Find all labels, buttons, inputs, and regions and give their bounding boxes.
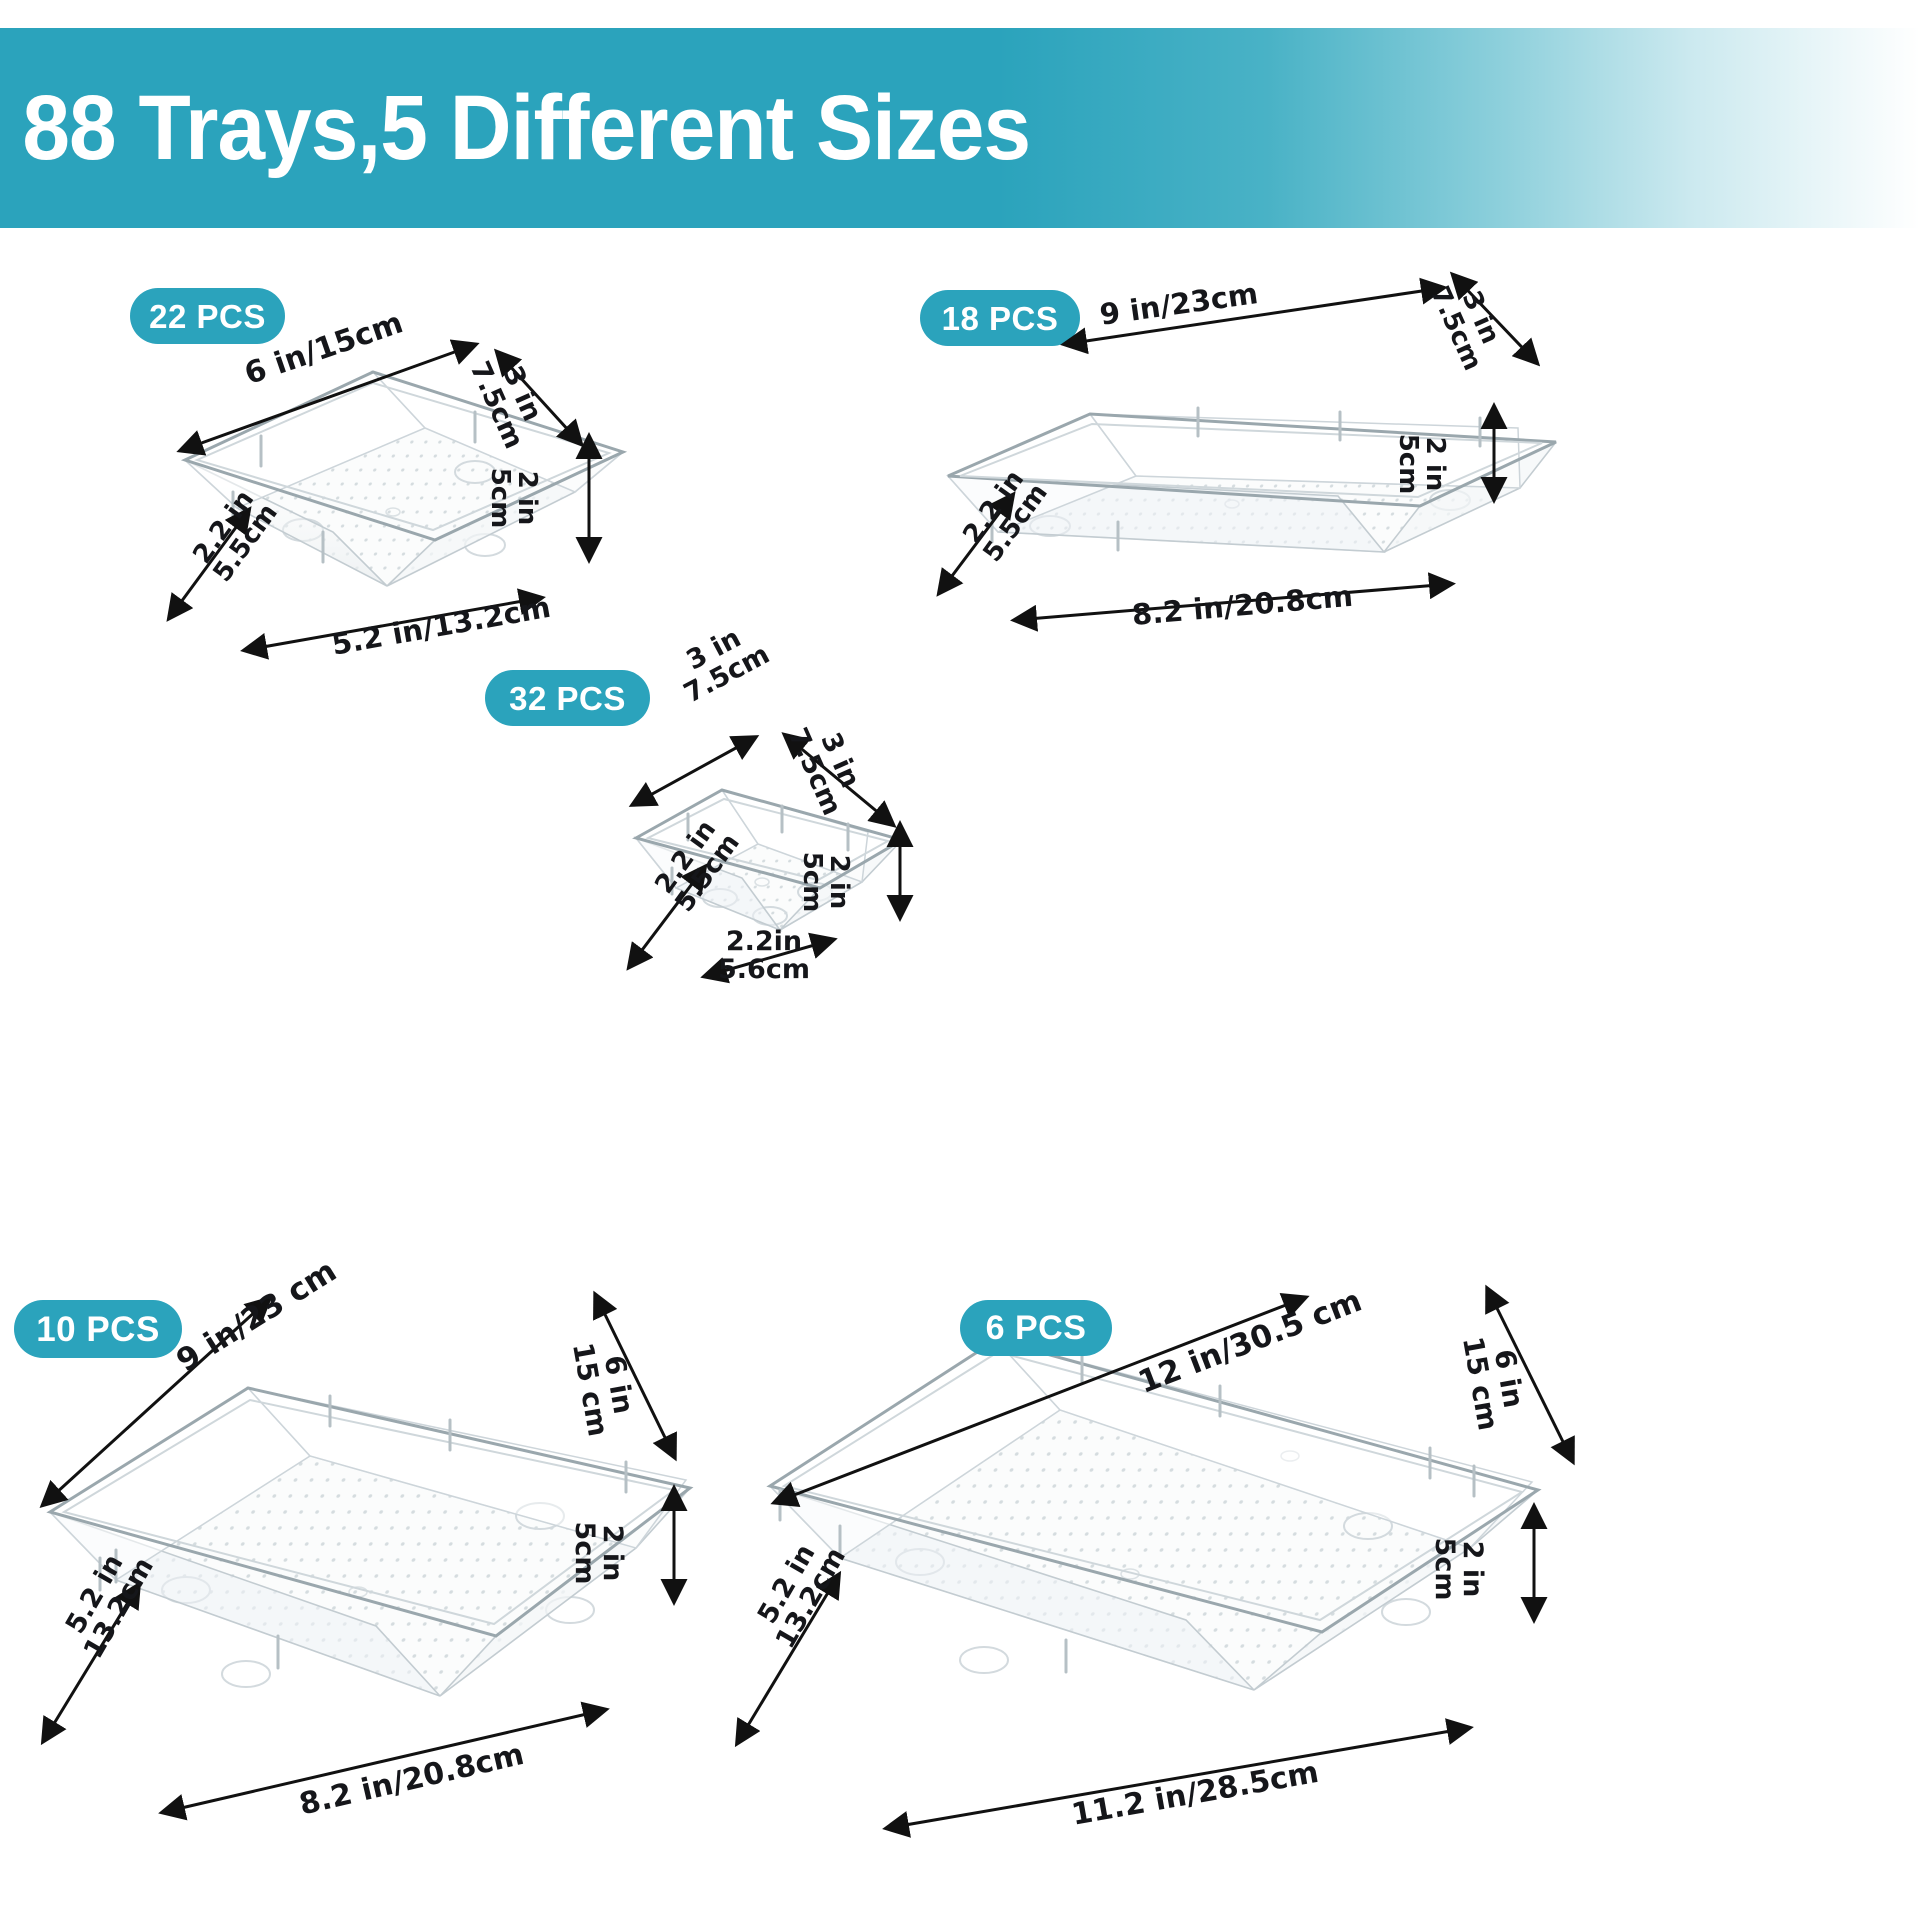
tray-illustration-6pcs <box>730 1290 1550 1770</box>
badge-18pcs: 18 PCS <box>920 290 1080 346</box>
dim-height-line1-32pcs: 2 in <box>824 855 854 910</box>
header-banner: 88 Trays,5 Different Sizes <box>0 28 1920 228</box>
dim-bottom-width-32pcs: 2.2in 5.6cm <box>718 928 810 985</box>
badge-32pcs: 32 PCS <box>485 670 650 726</box>
dim-height-22pcs: 2 in 5cm <box>485 448 540 548</box>
dim-height-6pcs: 2 in 5cm <box>1429 1514 1486 1624</box>
dim-bottom-width-line1-32pcs: 2.2in <box>726 926 802 957</box>
dim-height-line2-32pcs: 5cm <box>797 852 827 913</box>
dim-height-18pcs: 2 in 5cm <box>1393 414 1448 514</box>
dim-top-width-32pcs: 3 in 7.5cm <box>650 607 791 718</box>
dim-height-line1-6pcs: 2 in <box>1457 1541 1488 1598</box>
dim-height-line1-18pcs: 2 in <box>1420 437 1450 492</box>
page-title: 88 Trays,5 Different Sizes <box>0 82 1030 174</box>
dim-height-line1-10pcs: 2 in <box>597 1525 628 1582</box>
badge-22pcs: 22 PCS <box>130 288 285 344</box>
dim-height-line1-22pcs: 2 in <box>512 471 542 526</box>
dim-height-line2-6pcs: 5cm <box>1429 1538 1460 1601</box>
dim-height-line2-18pcs: 5cm <box>1393 434 1423 495</box>
dim-bottom-width-line2-32pcs: 5.6cm <box>718 954 810 985</box>
dim-height-32pcs: 2 in 5cm <box>797 832 852 932</box>
dim-height-line2-10pcs: 5cm <box>569 1522 600 1585</box>
infographic-page: 88 Trays,5 Different Sizes <box>0 0 1920 1920</box>
dim-height-10pcs: 2 in 5cm <box>569 1498 626 1608</box>
badge-6pcs: 6 PCS <box>960 1300 1112 1356</box>
badge-10pcs: 10 PCS <box>14 1300 182 1358</box>
dim-height-line2-22pcs: 5cm <box>485 468 515 529</box>
